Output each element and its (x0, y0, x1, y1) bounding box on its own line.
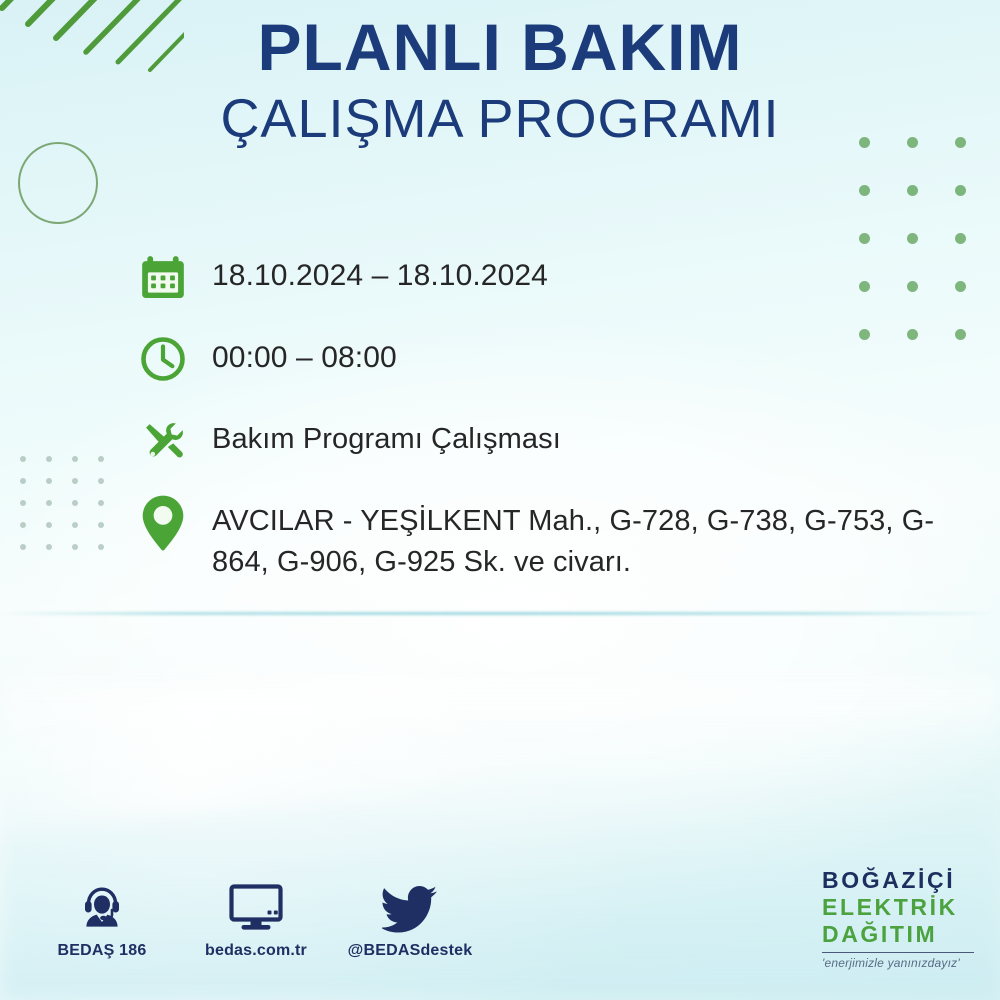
contact-phone[interactable]: BEDAŞ 186 (46, 877, 158, 960)
clock-icon (134, 330, 192, 388)
horizon-band (0, 612, 1000, 615)
logo-line-bogazici: BOĞAZİÇİ (822, 867, 974, 894)
page-title: PLANLI BAKIM (0, 14, 1000, 80)
contact-website[interactable]: bedas.com.tr (200, 877, 312, 960)
monitor-icon (228, 877, 284, 933)
detail-location-text: AVCILAR - YEŞİLKENT Mah., G-728, G-738, … (192, 494, 974, 583)
contact-phone-label: BEDAŞ 186 (58, 942, 147, 960)
headset-support-icon (76, 877, 128, 933)
contact-twitter-label: @BEDASdestek (348, 942, 473, 960)
logo-tagline: 'enerjimizle yanınızdayız' (822, 956, 974, 970)
detail-worktype-text: Bakım Programı Çalışması (192, 412, 974, 460)
location-pin-icon (134, 494, 192, 552)
maintenance-details-list: 18.10.2024 – 18.10.2024 00:00 – 08:00 (134, 248, 974, 583)
page-subtitle: ÇALIŞMA PROGRAMI (0, 92, 1000, 146)
detail-row-date: 18.10.2024 – 18.10.2024 (134, 248, 974, 306)
calendar-icon (134, 248, 192, 306)
logo-line-elektrik: ELEKTRİK (822, 894, 974, 921)
contact-channels: BEDAŞ 186 bedas.com.tr @BEDASdestek (46, 877, 466, 960)
logo-line-dagitim: DAĞITIM (822, 921, 974, 948)
detail-time-text: 00:00 – 08:00 (192, 330, 974, 380)
detail-row-worktype: Bakım Programı Çalışması (134, 412, 974, 470)
haze-band (0, 660, 1000, 750)
background-swoosh (0, 666, 504, 834)
dot-grid-left-decoration (10, 448, 114, 558)
circle-outline-decoration (18, 142, 98, 224)
contact-twitter[interactable]: @BEDASdestek (354, 877, 466, 960)
detail-row-location: AVCILAR - YEŞİLKENT Mah., G-728, G-738, … (134, 494, 974, 583)
contact-website-label: bedas.com.tr (205, 942, 307, 960)
logo-divider (822, 952, 974, 954)
twitter-bird-icon (382, 877, 438, 933)
detail-row-time: 00:00 – 08:00 (134, 330, 974, 388)
tools-icon (134, 412, 192, 470)
detail-date-text: 18.10.2024 – 18.10.2024 (192, 248, 974, 298)
bedas-logo: BOĞAZİÇİ ELEKTRİK DAĞITIM 'enerjimizle y… (822, 867, 974, 970)
poster-header: PLANLI BAKIM ÇALIŞMA PROGRAMI (0, 14, 1000, 146)
planned-maintenance-poster: PLANLI BAKIM ÇALIŞMA PROGRAMI (0, 0, 1000, 1000)
